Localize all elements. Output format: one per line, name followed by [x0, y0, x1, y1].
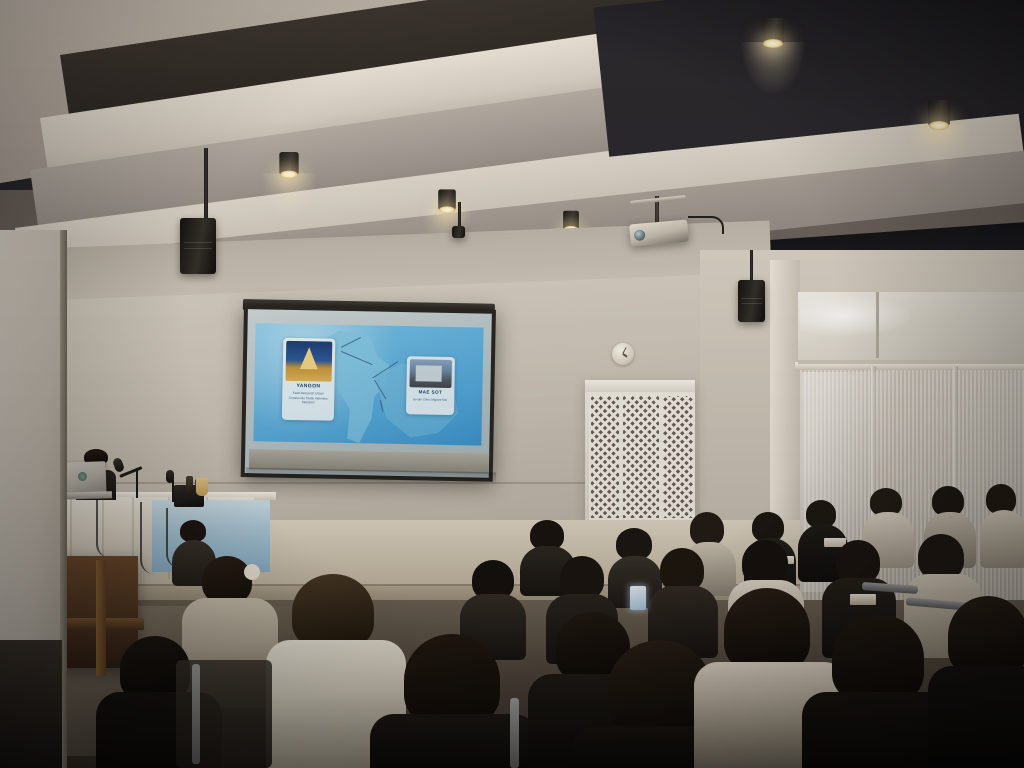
second-microphone[interactable] — [166, 470, 174, 483]
water-bottle-1[interactable] — [186, 476, 193, 496]
wooden-bench-leg — [96, 560, 106, 676]
cabinet-panel-left[interactable] — [589, 394, 621, 520]
center-ceiling-fixture — [452, 226, 465, 238]
slide-card-maesot-title: MAE SOT — [406, 389, 454, 395]
microphone-stand — [136, 468, 138, 498]
chair-back — [176, 660, 272, 768]
pagoda-icon — [300, 347, 318, 369]
ceiling-downlight-3 — [279, 152, 298, 182]
left-speaker — [180, 218, 216, 274]
right-speaker — [738, 280, 765, 322]
projector-cable — [688, 216, 724, 234]
laptop-logo-icon — [78, 472, 87, 481]
projection-screen[interactable]: YANGON Field Research Urban Community St… — [241, 305, 496, 482]
name-badge — [850, 594, 876, 605]
table-cable-2 — [140, 502, 160, 574]
table-cable-1 — [96, 500, 124, 558]
wall-clock — [612, 343, 634, 365]
slide-card-maesot-body: Border Clinic Migrant Site — [410, 397, 450, 402]
presenter-laptop[interactable] — [61, 461, 106, 495]
projector-lens-icon — [634, 229, 646, 241]
projection-screen-surface: YANGON Field Research Urban Community St… — [245, 309, 492, 478]
chair-frame — [510, 698, 519, 768]
slide-card-yangon: YANGON Field Research Urban Community St… — [282, 338, 336, 421]
building-icon — [416, 365, 442, 381]
ceiling-downlight-1 — [762, 18, 784, 52]
right-speaker-pole — [750, 250, 753, 282]
ceiling-downlight-4 — [438, 189, 456, 216]
slide-card-yangon-body: Field Research Urban Community Study Int… — [286, 391, 330, 406]
lattice-cabinet — [585, 380, 695, 535]
window-transom-mullion — [876, 292, 879, 358]
hair-tie — [244, 564, 260, 580]
slide-card-yangon-title: YANGON — [282, 383, 334, 390]
photo-scene: YANGON Field Research Urban Community St… — [0, 0, 1024, 768]
cabinet-panel-right[interactable] — [661, 394, 695, 520]
ceiling-downlight-2 — [928, 100, 950, 134]
slide-card-maesot-photo — [409, 359, 452, 388]
left-speaker-pole — [204, 148, 208, 220]
left-doorway-shadow — [0, 640, 62, 768]
presentation-slide: YANGON Field Research Urban Community St… — [253, 323, 483, 445]
slide-card-yangon-photo — [286, 341, 333, 382]
cup-stack[interactable] — [196, 478, 208, 496]
chair-frame — [192, 664, 200, 764]
window-transom-highlight — [800, 296, 910, 336]
cabinet-top — [585, 380, 695, 392]
slide-card-maesot: MAE SOT Border Clinic Migrant Site — [406, 356, 455, 415]
cabinet-panel-center[interactable] — [621, 394, 661, 520]
phone-camera-screen[interactable] — [630, 586, 646, 610]
